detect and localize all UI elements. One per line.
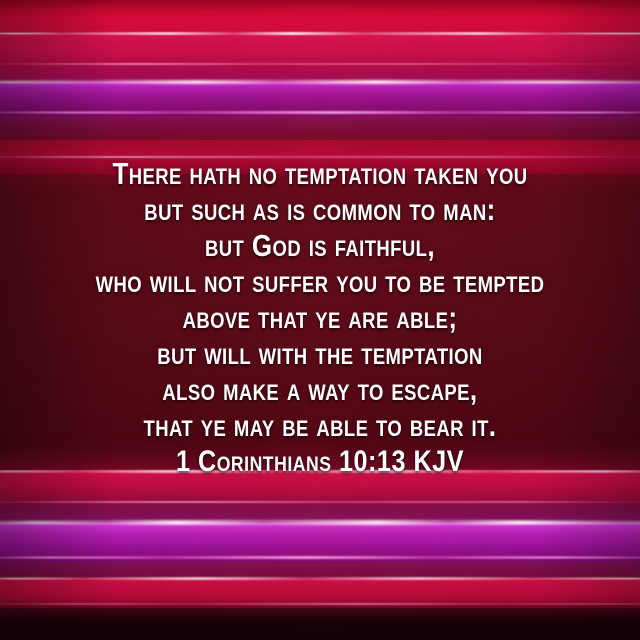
verse-line-1: There hath no temptation taken you — [51, 156, 589, 192]
verse-line-5: above that ye are able; — [51, 300, 589, 336]
verse-line-8: that ye may be able to bear it. — [51, 408, 589, 444]
scripture-image: There hath no temptation taken you but s… — [0, 0, 640, 640]
verse-line-7: also make a way to escape, — [51, 372, 589, 408]
bottom-fade — [0, 600, 640, 640]
verse-text-block: There hath no temptation taken you but s… — [0, 156, 640, 480]
verse-line-4: who will not suffer you to be tempted — [51, 264, 589, 300]
verse-line-2: but such as is common to man: — [51, 192, 589, 228]
verse-line-6: but will with the temptation — [51, 336, 589, 372]
verse-reference: 1 Corinthians 10:13 KJV — [51, 444, 589, 480]
verse-line-3: but God is faithful, — [51, 228, 589, 264]
